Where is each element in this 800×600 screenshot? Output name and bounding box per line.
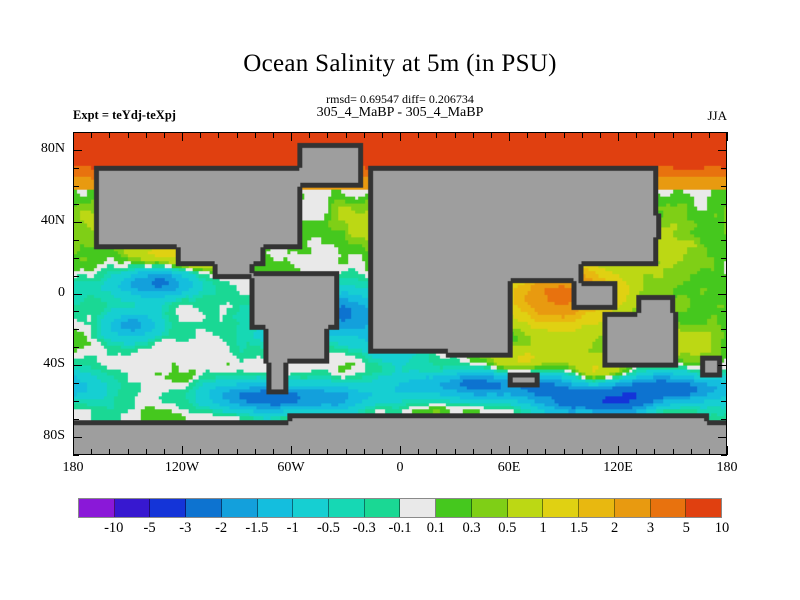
y-axis-tick (73, 419, 79, 420)
x-axis-tick-top (346, 132, 347, 138)
x-axis-label: 180 (692, 460, 762, 476)
x-axis-tick-top (636, 132, 637, 138)
x-axis-tick (327, 449, 328, 455)
colorbar-tick-label: 0.5 (487, 520, 527, 537)
colorbar-swatch (258, 499, 294, 517)
x-axis-tick-top (273, 132, 274, 138)
y-axis-label: 80S (2, 428, 65, 444)
x-axis-tick (291, 446, 292, 455)
colorbar-swatch (472, 499, 508, 517)
x-axis-tick (128, 449, 129, 455)
x-axis-tick-top (527, 132, 528, 138)
x-axis-tick-top (382, 132, 383, 138)
colorbar-swatch (579, 499, 615, 517)
x-axis-tick-top (491, 132, 492, 138)
colorbar-tick-label: -0.3 (344, 520, 384, 537)
x-axis-tick (727, 446, 728, 455)
y-axis-tick-right (721, 329, 727, 330)
x-axis-label: 60W (256, 460, 326, 476)
x-axis-tick (91, 449, 92, 455)
x-axis-tick-top (564, 132, 565, 138)
y-axis-tick-right (721, 204, 727, 205)
x-axis-tick-top (418, 132, 419, 138)
x-axis-label: 180 (38, 460, 108, 476)
x-axis-tick-top (200, 132, 201, 138)
x-axis-tick-top (727, 132, 728, 141)
y-axis-tick (73, 132, 79, 133)
colorbar-tick-label: -1.5 (237, 520, 277, 537)
x-axis-tick (237, 449, 238, 455)
salinity-heatmap-canvas (74, 133, 726, 454)
colorbar-tick-label: -3 (165, 520, 205, 537)
x-axis-tick (545, 449, 546, 455)
x-axis-tick (654, 449, 655, 455)
x-axis-tick (146, 449, 147, 455)
colorbar-tick-label: -1 (273, 520, 313, 537)
x-axis-tick (364, 449, 365, 455)
colorbar-swatch (150, 499, 186, 517)
experiment-label: Expt = teYdj-teXpj (73, 108, 176, 123)
x-axis-tick (182, 446, 183, 455)
x-axis-tick-top (400, 132, 401, 141)
colorbar-swatch (293, 499, 329, 517)
colorbar-swatch (508, 499, 544, 517)
y-axis-tick-right (718, 222, 727, 223)
colorbar-tick-label: 3 (630, 520, 670, 537)
x-axis-tick-top (691, 132, 692, 138)
colorbar-tick-label: 0.1 (416, 520, 456, 537)
colorbar-swatch (400, 499, 436, 517)
y-axis-tick (73, 258, 79, 259)
x-axis-tick (309, 449, 310, 455)
colorbar-tick-label: -0.5 (308, 520, 348, 537)
x-axis-tick-top (618, 132, 619, 141)
y-axis-label: 40N (2, 213, 65, 229)
y-axis-tick-right (721, 168, 727, 169)
y-axis-tick-right (721, 401, 727, 402)
y-axis-label: 40S (2, 356, 65, 372)
x-axis-tick-top (455, 132, 456, 138)
y-axis-tick-right (721, 132, 727, 133)
x-axis-tick (673, 449, 674, 455)
y-axis-tick-right (721, 311, 727, 312)
x-axis-tick (709, 449, 710, 455)
colorbar-swatch (115, 499, 151, 517)
x-axis-tick (218, 449, 219, 455)
x-axis-label: 120W (147, 460, 217, 476)
x-axis-tick (636, 449, 637, 455)
colorbar-swatch (365, 499, 401, 517)
y-axis-tick-right (721, 383, 727, 384)
x-axis-tick (691, 449, 692, 455)
x-axis-tick-top (146, 132, 147, 138)
x-axis-tick-top (182, 132, 183, 141)
y-axis-label: 80N (2, 141, 65, 157)
x-axis-label: 60E (474, 460, 544, 476)
y-axis-label: 0 (2, 285, 65, 301)
y-axis-tick-right (721, 276, 727, 277)
colorbar-tick-label: -5 (130, 520, 170, 537)
y-axis-tick-right (718, 294, 727, 295)
x-axis-tick (273, 449, 274, 455)
x-axis-tick-top (128, 132, 129, 138)
y-axis-tick (73, 347, 79, 348)
y-axis-tick (73, 329, 79, 330)
x-axis-tick-top (473, 132, 474, 138)
y-axis-tick-right (718, 365, 727, 366)
y-axis-tick-right (718, 437, 727, 438)
x-axis-tick-top (545, 132, 546, 138)
x-axis-tick-top (109, 132, 110, 138)
y-axis-tick (73, 365, 82, 366)
y-axis-tick (73, 276, 79, 277)
colorbar-tick-label: 1.5 (559, 520, 599, 537)
y-axis-tick-right (721, 419, 727, 420)
x-axis-label: 120E (583, 460, 653, 476)
x-axis-tick-top (327, 132, 328, 138)
x-axis-tick (618, 446, 619, 455)
colorbar-swatch (186, 499, 222, 517)
x-axis-tick-top (654, 132, 655, 138)
x-axis-tick (564, 449, 565, 455)
x-axis-tick (527, 449, 528, 455)
x-axis-tick-top (237, 132, 238, 138)
x-axis-tick-top (73, 132, 74, 141)
y-axis-tick-right (721, 240, 727, 241)
colorbar-tick-label: 1 (523, 520, 563, 537)
x-axis-tick (582, 449, 583, 455)
x-axis-tick-top (364, 132, 365, 138)
colorbar-tick-label: 0.3 (452, 520, 492, 537)
x-axis-tick (255, 449, 256, 455)
y-axis-tick (73, 240, 79, 241)
y-axis-tick-right (721, 258, 727, 259)
x-axis-tick-top (91, 132, 92, 138)
y-axis-tick (73, 204, 79, 205)
y-axis-tick (73, 401, 79, 402)
page-title: Ocean Salinity at 5m (in PSU) (0, 50, 800, 78)
y-axis-tick (73, 311, 79, 312)
colorbar-swatch (615, 499, 651, 517)
x-axis-tick-top (600, 132, 601, 138)
x-axis-tick (164, 449, 165, 455)
x-axis-tick (600, 449, 601, 455)
x-axis-label: 0 (365, 460, 435, 476)
x-axis-tick-top (309, 132, 310, 138)
x-axis-tick (455, 449, 456, 455)
colorbar-tick-label: -0.1 (380, 520, 420, 537)
y-axis-tick (73, 222, 82, 223)
x-axis-tick (509, 446, 510, 455)
x-axis-tick (346, 449, 347, 455)
map-plot-area (73, 132, 727, 455)
x-axis-tick (200, 449, 201, 455)
y-axis-tick-right (718, 150, 727, 151)
y-axis-tick (73, 383, 79, 384)
y-axis-tick (73, 150, 82, 151)
x-axis-tick-top (164, 132, 165, 138)
x-axis-tick (418, 449, 419, 455)
colorbar-tick-label: 10 (702, 520, 742, 537)
y-axis-tick-right (721, 186, 727, 187)
x-axis-tick (436, 449, 437, 455)
x-axis-tick-top (218, 132, 219, 138)
salinity-map-figure: Ocean Salinity at 5m (in PSU) rmsd= 0.69… (0, 0, 800, 600)
x-axis-tick-top (509, 132, 510, 141)
colorbar-tick-label: 5 (666, 520, 706, 537)
colorbar-tick-labels: -10-5-3-2-1.5-1-0.5-0.3-0.10.10.30.511.5… (78, 520, 722, 542)
x-axis-tick (491, 449, 492, 455)
x-axis-tick (400, 446, 401, 455)
x-axis-tick (73, 446, 74, 455)
y-axis-tick (73, 168, 79, 169)
colorbar (78, 498, 722, 518)
colorbar-swatch (222, 499, 258, 517)
x-axis-tick-top (709, 132, 710, 138)
y-axis-tick (73, 186, 79, 187)
x-axis-tick-top (291, 132, 292, 141)
y-axis-tick (73, 437, 82, 438)
colorbar-swatch (436, 499, 472, 517)
colorbar-swatch (651, 499, 687, 517)
colorbar-tick-label: 2 (595, 520, 635, 537)
colorbar-tick-label: -2 (201, 520, 241, 537)
x-axis-tick-top (255, 132, 256, 138)
colorbar-swatch (543, 499, 579, 517)
x-axis-tick-top (673, 132, 674, 138)
y-axis-tick (73, 455, 79, 456)
x-axis-tick-top (582, 132, 583, 138)
season-label: JJA (707, 108, 727, 124)
y-axis-tick (73, 294, 82, 295)
colorbar-swatch (686, 499, 721, 517)
y-axis-tick-right (721, 347, 727, 348)
colorbar-swatch (329, 499, 365, 517)
x-axis-tick (473, 449, 474, 455)
colorbar-tick-label: -10 (94, 520, 134, 537)
x-axis-tick (109, 449, 110, 455)
y-axis-tick-right (721, 455, 727, 456)
colorbar-swatch (79, 499, 115, 517)
x-axis-tick (382, 449, 383, 455)
x-axis-tick-top (436, 132, 437, 138)
